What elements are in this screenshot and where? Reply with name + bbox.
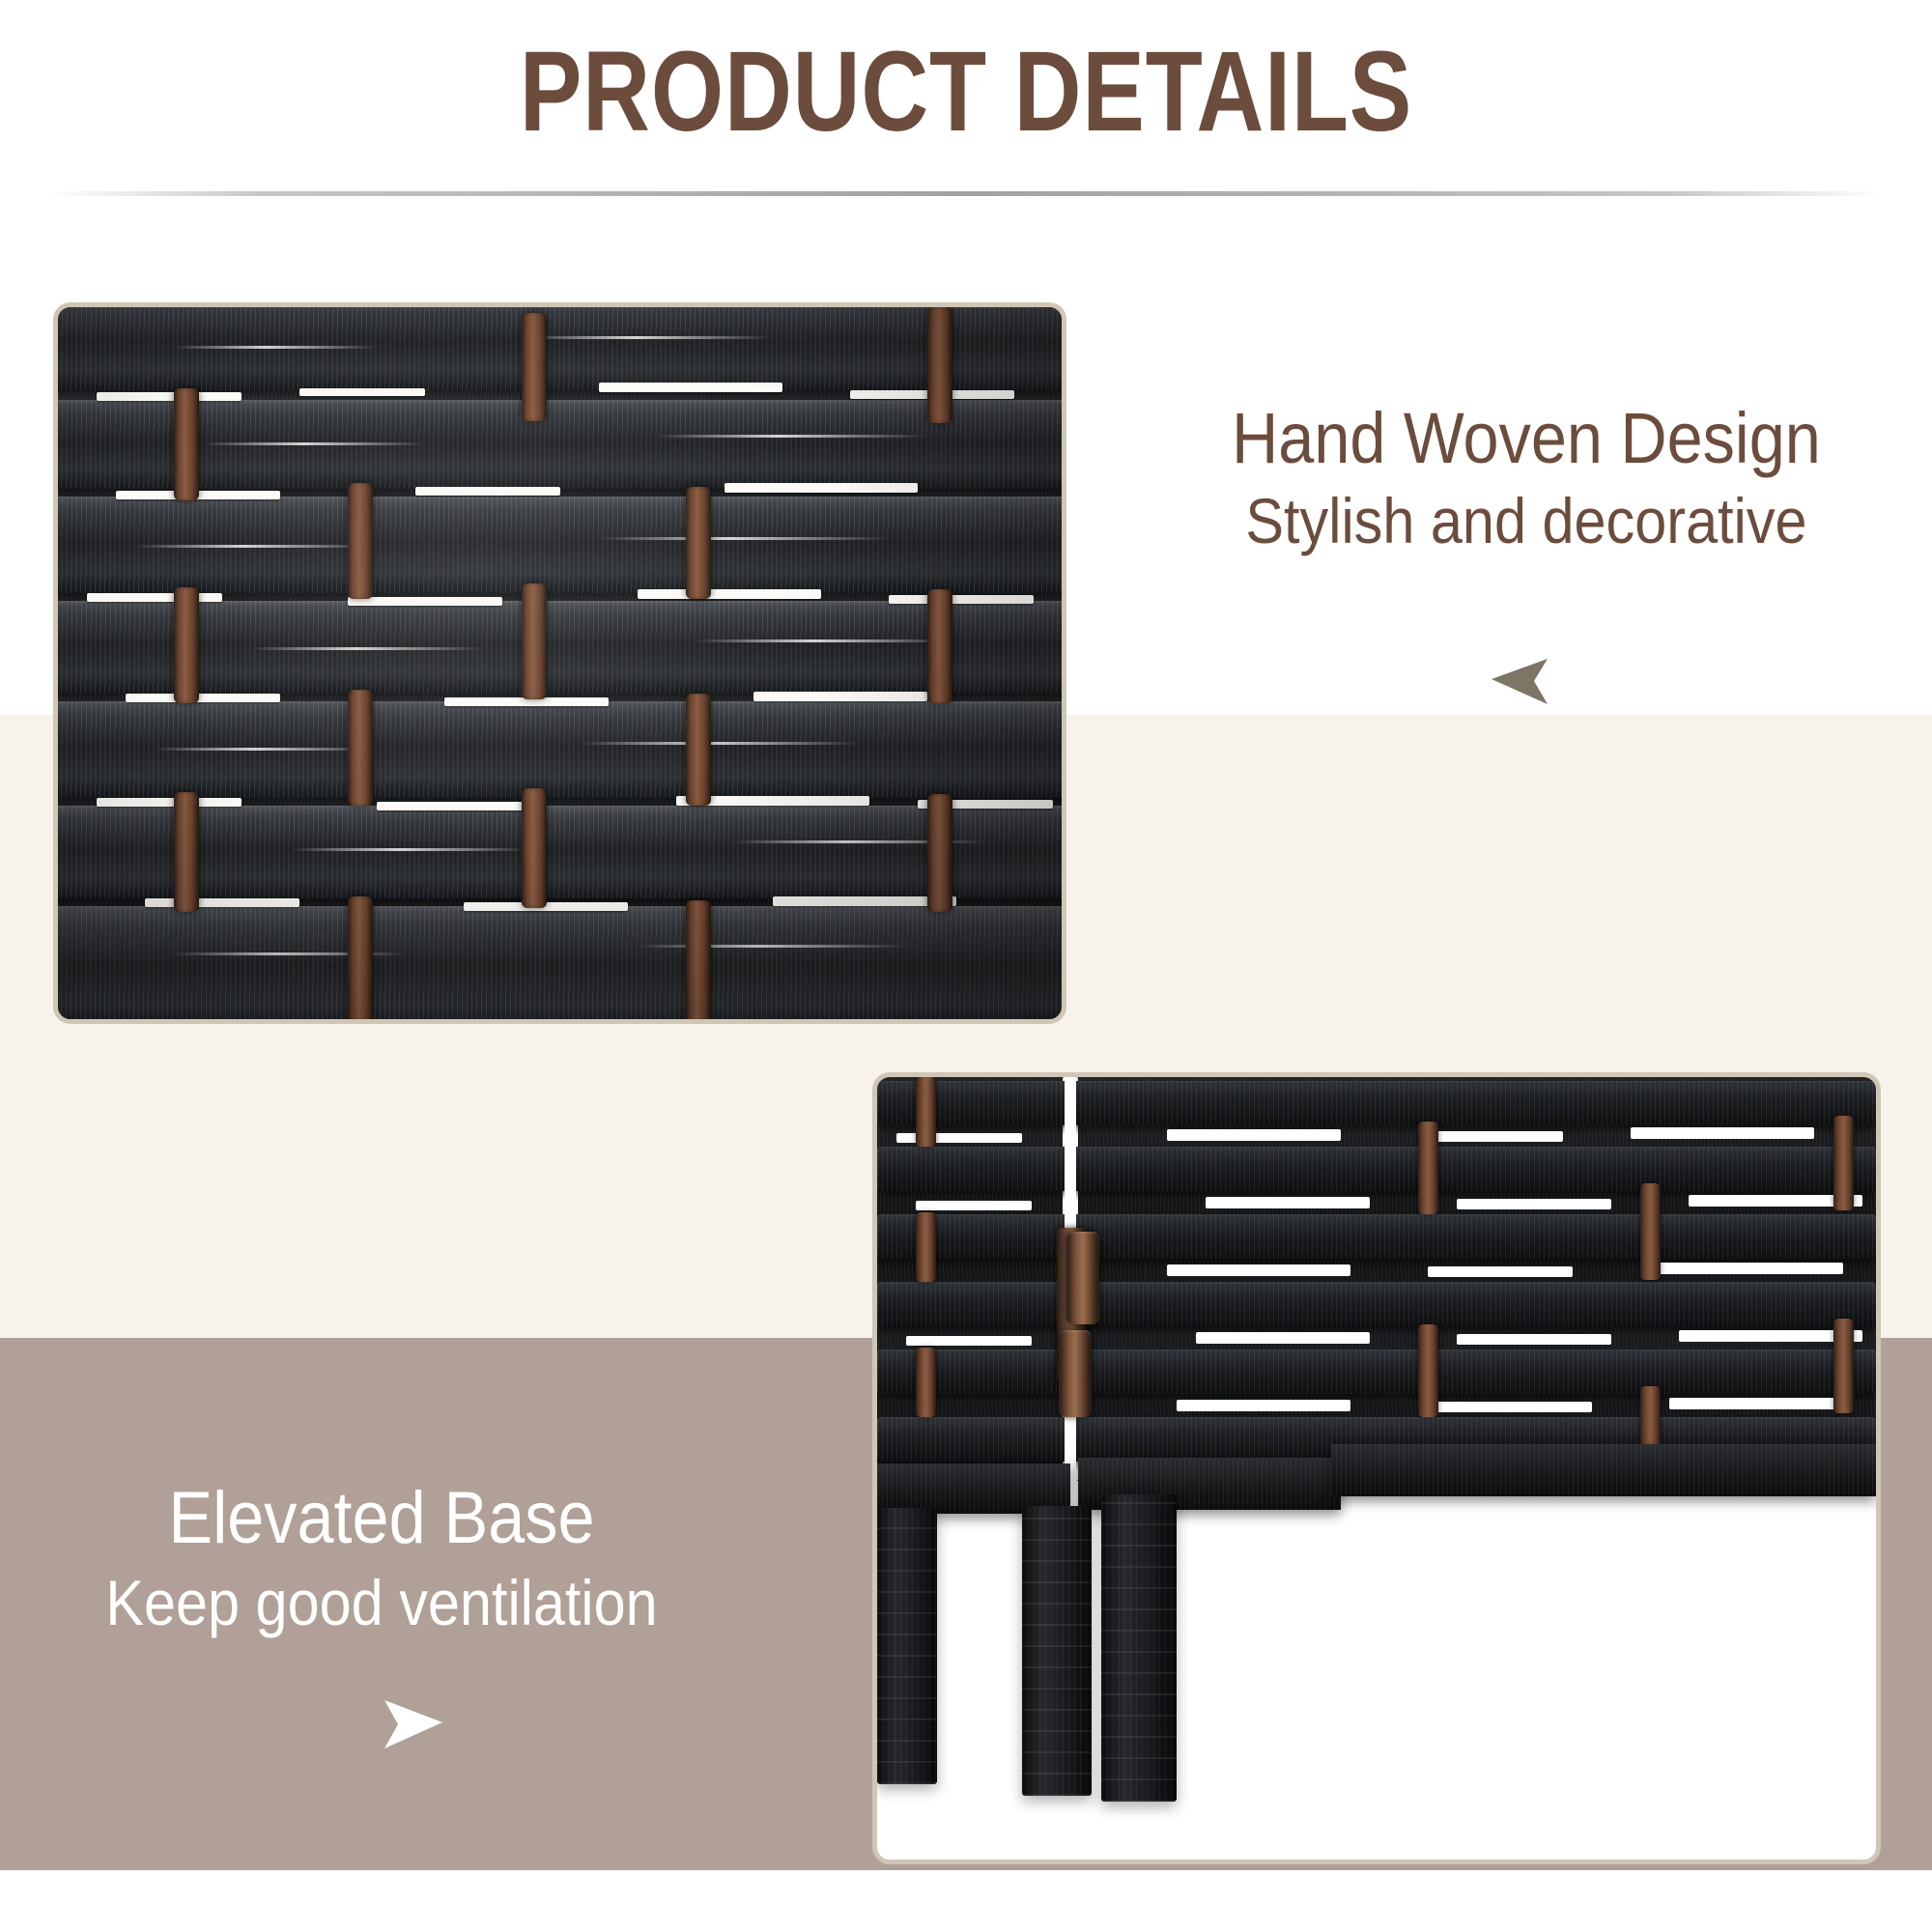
weave-highlight [522,336,773,339]
weave-highlight [251,647,483,650]
weave-gap [889,595,1034,604]
screen-weave-gap [906,1336,1032,1346]
screen-dowel [1833,1319,1854,1413]
screen-weave-gap [1437,1402,1592,1412]
weave-highlight [155,748,377,751]
weave-highlight [657,435,927,438]
weave-highlight [696,639,956,642]
weave-gap [97,392,241,401]
weave-dowel [522,313,547,421]
screen-weave-gap [1167,1129,1341,1141]
screen-bottom-rail-right [1331,1444,1876,1496]
weave-dowel [927,589,952,703]
weave-gap [724,483,918,493]
weave-highlight [638,945,908,948]
photo-weave-content [58,307,1062,1019]
weave-dowel [686,900,711,1024]
weave-highlight [290,848,531,851]
screen-leg-left [1022,1506,1092,1796]
screen-weave-gap [1631,1127,1814,1139]
weave-gap [348,597,502,606]
weave-gap [753,692,927,701]
feature-hand-woven-subtext: Stylish and decorative [1161,486,1891,557]
weave-strap [53,601,1066,694]
weave-dowel [348,690,373,806]
weave-dowel [686,487,711,599]
screen-dowel [1418,1122,1438,1214]
weave-gap [415,487,560,496]
screen-weave-gap [1418,1131,1563,1142]
feature-elevated-base-subtext: Keep good ventilation [39,1568,725,1639]
screen-weave-row [877,1081,1876,1125]
hinge-knuckle-upper [1066,1232,1099,1324]
screen-leg-right [1101,1494,1177,1802]
feature-hand-woven: Hand Woven Design Stylish and decorative [1121,401,1932,557]
screen-weave-gap [1167,1264,1350,1276]
screen-weave-gap [916,1201,1032,1210]
weave-dowel [686,694,711,806]
weave-gap [97,798,241,807]
weave-dowel [348,896,373,1022]
screen-dowel [1833,1116,1854,1210]
screen-weave-gap [1457,1334,1611,1345]
infographic-canvas: PRODUCT DETAILS [0,0,1932,1932]
weave-strap [53,806,1066,898]
screen-weave-gap [1206,1197,1370,1208]
screen-weave-gap [1457,1199,1611,1209]
weave-gap [145,898,299,907]
weave-dowel [927,794,952,912]
screen-weave-gap [1196,1332,1370,1344]
weave-highlight [203,442,425,445]
feature-hand-woven-headline: Hand Woven Design [1161,401,1891,476]
feature-elevated-base-headline: Elevated Base [39,1480,725,1558]
screen-weave-row [877,1214,1876,1259]
screen-weave-gap [1669,1398,1853,1409]
arrow-left-icon [1488,657,1555,712]
weave-dowel [927,307,952,423]
weave-highlight [174,346,377,349]
screen-dowel [916,1212,936,1282]
weave-highlight [580,742,860,745]
screen-weave-row [877,1350,1876,1394]
photo-screen-content [877,1077,1876,1860]
screen-weave-gap [1177,1400,1350,1411]
weave-gap [126,694,280,702]
feature-elevated-base: Elevated Base Keep good ventilation [0,1480,763,1638]
screen-dowel [916,1077,936,1147]
header-divider [48,191,1884,196]
weave-gap [599,383,782,392]
weave-gap [87,593,222,602]
screen-weave-row [877,1282,1876,1326]
background-band-white-bottom [0,1870,1932,1932]
weave-strap [53,906,1066,1024]
screen-dowel [1418,1324,1438,1417]
photo-folding-screen-base [872,1072,1881,1864]
screen-dowel [916,1348,936,1417]
weave-highlight [599,537,889,540]
screen-leg-far-left [877,1508,937,1784]
weave-dowel [522,583,547,699]
weave-dowel [348,483,373,599]
weave-dowel [522,788,547,908]
weave-dowel [174,792,199,912]
page-title: PRODUCT DETAILS [174,33,1758,153]
weave-gap [377,802,531,810]
weave-gap [638,589,821,599]
screen-dowel [1640,1183,1661,1280]
weave-dowel [174,587,199,703]
photo-weave-closeup [53,302,1066,1024]
weave-highlight [135,545,377,548]
weave-dowel [174,388,199,500]
screen-weave-gap [1428,1266,1573,1277]
weave-gap [299,388,425,396]
hinge-knuckle-lower [1059,1330,1092,1417]
screen-weave-gap [1650,1263,1843,1274]
arrow-right-icon [377,1698,446,1755]
screen-weave-row [877,1147,1876,1191]
